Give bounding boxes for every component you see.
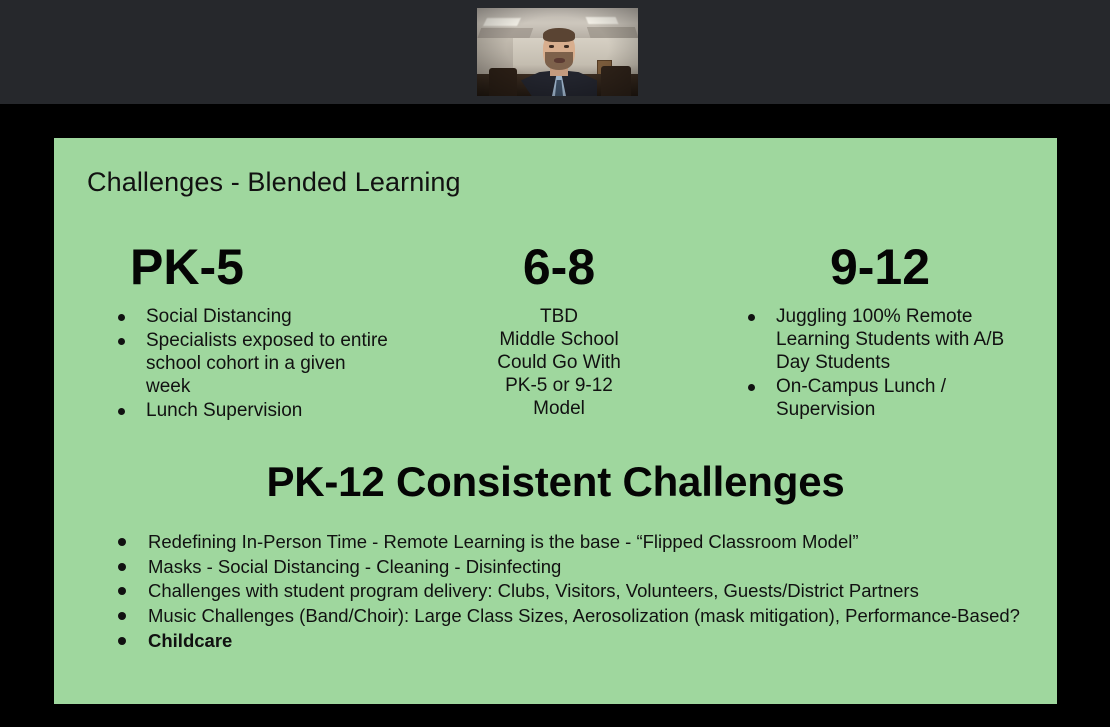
- text-line: Could Go With: [409, 352, 709, 375]
- list-item: Lunch Supervision: [94, 400, 394, 423]
- list-item: On-Campus Lunch / Supervision: [724, 376, 1036, 422]
- presentation-slide: Challenges - Blended Learning PK-5 Socia…: [54, 138, 1057, 704]
- text-line: Model: [409, 398, 709, 421]
- main-heading: PK-12 Consistent Challenges: [54, 458, 1057, 506]
- list-item: Masks - Social Distancing - Cleaning - D…: [96, 555, 1026, 579]
- consistent-challenges-list: Redefining In-Person Time - Remote Learn…: [96, 530, 1026, 653]
- list-item: Challenges with student program delivery…: [96, 579, 1026, 603]
- video-vignette: [477, 8, 638, 96]
- list-item: Childcare: [96, 629, 1026, 653]
- column-pk5-heading: PK-5: [94, 242, 394, 292]
- participant-video-tile[interactable]: [477, 8, 638, 96]
- list-item: Specialists exposed to entire school coh…: [94, 330, 394, 399]
- slide-title: Challenges - Blended Learning: [87, 167, 461, 198]
- column-6-8: 6-8 TBD Middle School Could Go With PK-5…: [409, 242, 709, 421]
- column-6-8-text: TBD Middle School Could Go With PK-5 or …: [409, 306, 709, 421]
- list-item: Redefining In-Person Time - Remote Learn…: [96, 530, 1026, 554]
- text-line: TBD: [409, 306, 709, 329]
- column-9-12: 9-12 Juggling 100% Remote Learning Stude…: [724, 242, 1036, 423]
- text-line: PK-5 or 9-12: [409, 375, 709, 398]
- column-pk5: PK-5 Social Distancing Specialists expos…: [94, 242, 394, 424]
- video-conference-bar: [0, 0, 1110, 104]
- column-9-12-list: Juggling 100% Remote Learning Students w…: [724, 306, 1036, 422]
- column-9-12-heading: 9-12: [724, 242, 1036, 292]
- list-item: Juggling 100% Remote Learning Students w…: [724, 306, 1036, 375]
- column-pk5-list: Social Distancing Specialists exposed to…: [94, 306, 394, 423]
- list-item: Music Challenges (Band/Choir): Large Cla…: [96, 604, 1026, 628]
- text-line: Middle School: [409, 329, 709, 352]
- shared-screen-stage: Challenges - Blended Learning PK-5 Socia…: [0, 104, 1110, 727]
- list-item: Social Distancing: [94, 306, 394, 329]
- column-6-8-heading: 6-8: [409, 242, 709, 292]
